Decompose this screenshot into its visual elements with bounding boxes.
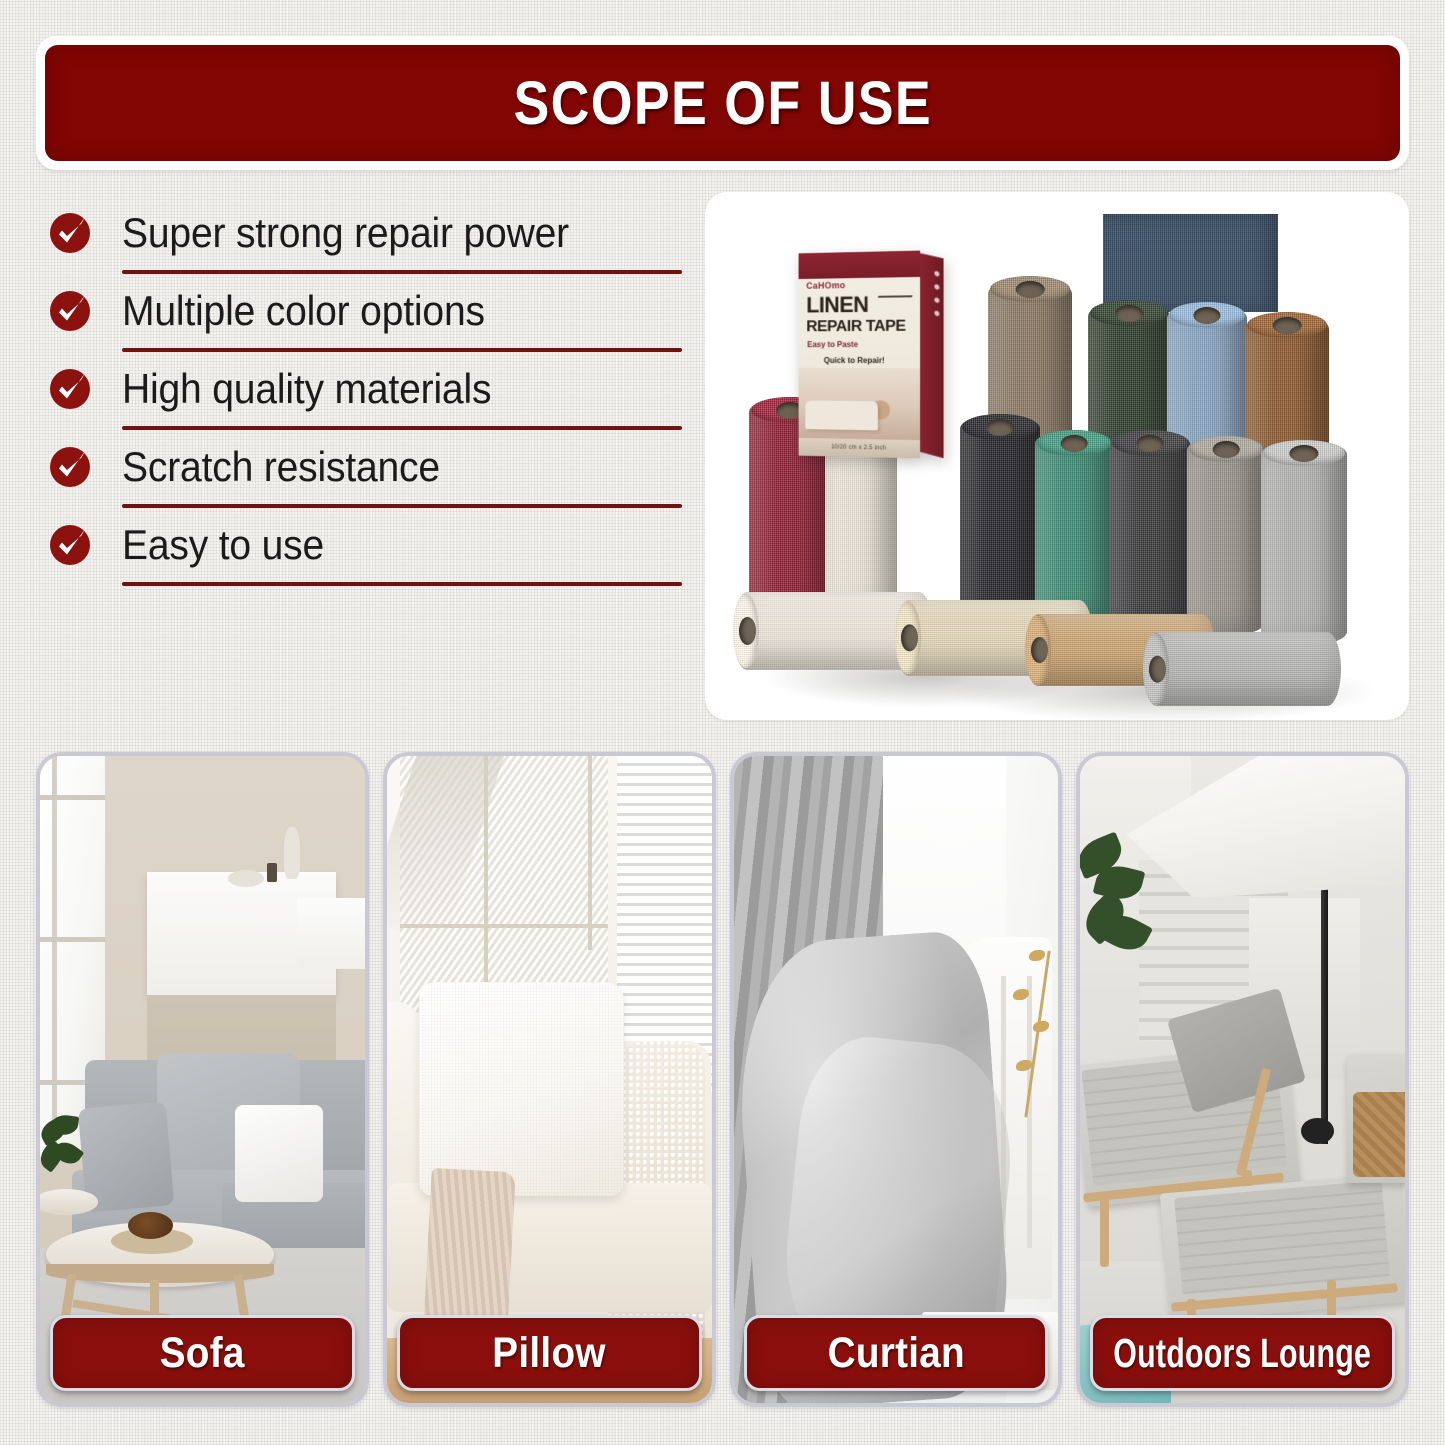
header-banner-frame: SCOPE OF USE <box>36 36 1409 170</box>
check-circle-icon <box>48 445 92 489</box>
feature-label: Multiple color options <box>122 287 485 335</box>
feature-label: Easy to use <box>122 521 324 569</box>
use-case-panels: Sofa <box>36 752 1409 1407</box>
page-title: SCOPE OF USE <box>513 68 932 138</box>
tape-sheet-navy <box>1103 214 1278 312</box>
check-circle-icon <box>48 367 92 411</box>
panel-caption-outdoors-lounge: Outdoors Lounge <box>1090 1315 1395 1391</box>
check-circle-icon <box>48 289 92 333</box>
panel-caption-sofa: Sofa <box>50 1315 355 1391</box>
box-tagline-1: Easy to Paste <box>807 340 858 349</box>
tape-roll-charcoal <box>1110 430 1190 634</box>
outdoors-lounge-scene-photo <box>1080 756 1405 1403</box>
check-circle-icon <box>48 523 92 567</box>
tape-roll-light-grey <box>1261 440 1347 646</box>
panel-caption-curtain: Curtian <box>744 1315 1049 1391</box>
box-side-bullets <box>934 271 939 317</box>
feature-item: Scratch resistance <box>40 430 688 504</box>
header-banner: SCOPE OF USE <box>45 45 1400 161</box>
product-photo-card: CaHOmo LINEN REPAIR TAPE Easy to Paste Q… <box>705 192 1409 720</box>
tape-roll-warm-grey <box>1187 436 1265 636</box>
feature-item: Super strong repair power <box>40 196 688 270</box>
use-case-panel-outdoors-lounge[interactable]: Outdoors Lounge <box>1076 752 1409 1407</box>
use-case-panel-curtain[interactable]: Curtian <box>730 752 1063 1407</box>
curtain-scene-photo <box>734 756 1059 1403</box>
feature-label: Super strong repair power <box>122 209 569 257</box>
use-case-panel-pillow[interactable]: Pillow <box>383 752 716 1407</box>
house-roof-icon <box>873 295 912 312</box>
sofa-scene-photo <box>40 756 365 1403</box>
brand-logo: CaHOmo <box>806 280 845 291</box>
box-front-panel: CaHOmo LINEN REPAIR TAPE Easy to Paste Q… <box>799 251 921 459</box>
panel-caption-label: Sofa <box>160 1329 245 1378</box>
box-size-label: 10/20 cm x 2.5 inch <box>799 438 921 459</box>
tape-roll-black <box>960 414 1040 626</box>
use-case-panel-sofa[interactable]: Sofa <box>36 752 369 1407</box>
feature-label: High quality materials <box>122 365 491 413</box>
panel-caption-pillow: Pillow <box>397 1315 702 1391</box>
feature-item: High quality materials <box>40 352 688 426</box>
product-photo: CaHOmo LINEN REPAIR TAPE Easy to Paste Q… <box>705 192 1409 720</box>
feature-item: Multiple color options <box>40 274 688 348</box>
panel-caption-label: Outdoors Lounge <box>1114 1330 1372 1377</box>
panel-caption-label: Pillow <box>492 1329 605 1378</box>
feature-item: Easy to use <box>40 508 688 582</box>
panel-caption-label: Curtian <box>827 1329 964 1378</box>
tape-roll-teal-green <box>1035 430 1113 626</box>
box-title-line2: REPAIR TAPE <box>806 319 905 336</box>
check-circle-icon <box>48 211 92 255</box>
product-retail-box: CaHOmo LINEN REPAIR TAPE Easy to Paste Q… <box>799 251 921 459</box>
feature-divider <box>122 582 682 586</box>
box-top-band <box>799 251 921 279</box>
feature-label: Scratch resistance <box>122 443 440 491</box>
pillow-scene-photo <box>387 756 712 1403</box>
feature-list: Super strong repair power Multiple color… <box>40 196 688 586</box>
box-lifestyle-photo <box>799 368 921 441</box>
tape-roll-silver-grey <box>1143 632 1341 706</box>
box-tagline-2: Quick to Repair! <box>824 356 885 365</box>
box-side-panel <box>917 252 944 458</box>
